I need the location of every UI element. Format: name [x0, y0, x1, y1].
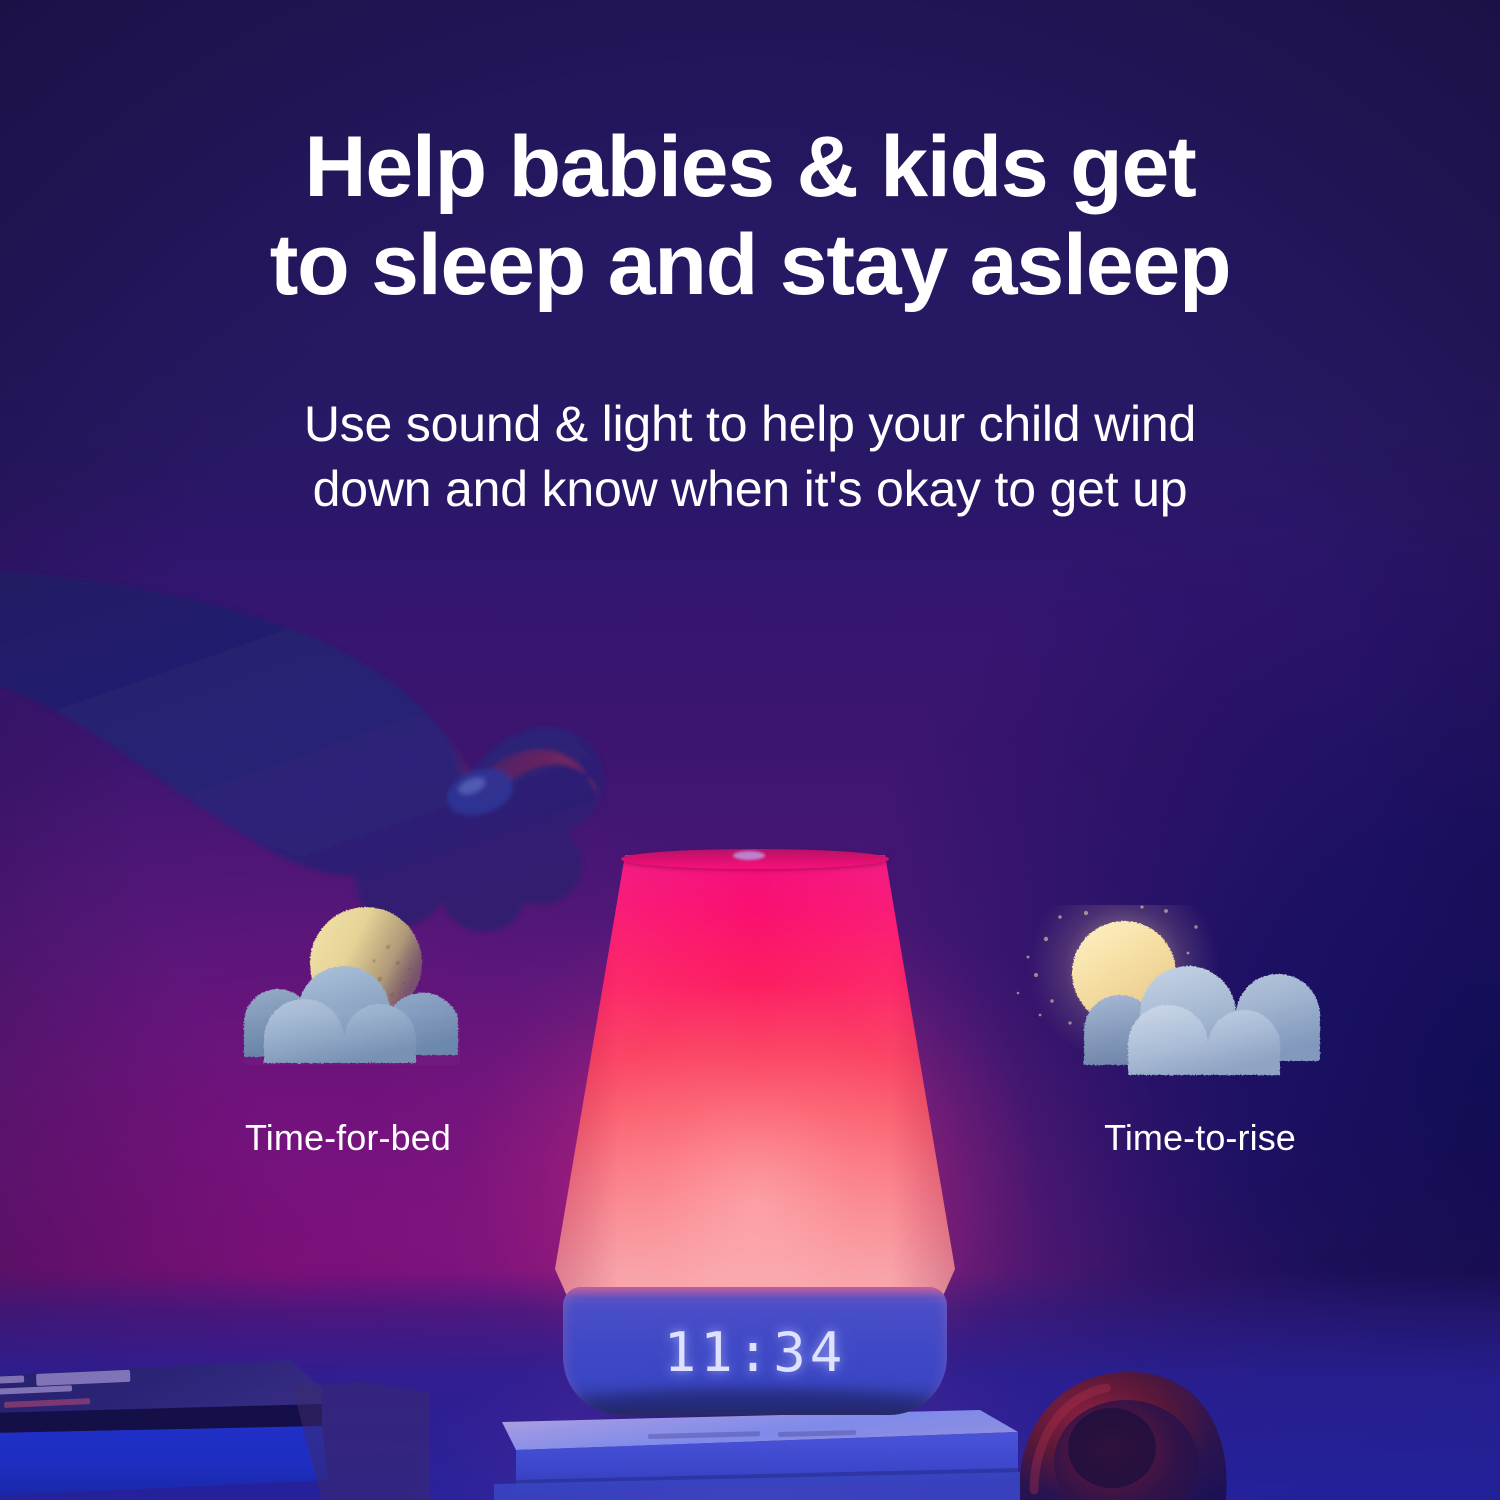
headline-line-2: to sleep and stay asleep — [120, 216, 1380, 314]
clock-display: 11:34 — [563, 1321, 947, 1384]
feature-time-to-rise: Time-to-rise — [1000, 905, 1400, 1159]
subheadline-line-1: Use sound & light to help your child win… — [120, 392, 1380, 457]
marketing-copy: Help babies & kids get to sleep and stay… — [0, 118, 1500, 522]
sun-behind-clouds-icon — [1000, 905, 1400, 1095]
subheadline-line-2: down and know when it's okay to get up — [120, 457, 1380, 522]
feature-time-for-bed: Time-for-bed — [148, 905, 548, 1159]
headline: Help babies & kids get to sleep and stay… — [0, 118, 1500, 314]
rounded-toy-object — [990, 1340, 1320, 1500]
moon-behind-clouds-icon — [148, 905, 548, 1095]
lamp-glowing-shade[interactable] — [555, 855, 955, 1305]
night-light-sound-machine[interactable]: 11:34 — [555, 855, 955, 1415]
product-marketing-image: Help babies & kids get to sleep and stay… — [0, 0, 1500, 1500]
lamp-base[interactable]: 11:34 — [563, 1287, 947, 1415]
feature-label-time-to-rise: Time-to-rise — [1000, 1117, 1400, 1159]
feature-label-time-for-bed: Time-for-bed — [148, 1117, 548, 1159]
headline-line-1: Help babies & kids get — [120, 118, 1380, 216]
subheadline: Use sound & light to help your child win… — [0, 392, 1500, 522]
book-stack-dark — [0, 1330, 430, 1500]
lamp-top-indicator-icon — [733, 851, 765, 860]
